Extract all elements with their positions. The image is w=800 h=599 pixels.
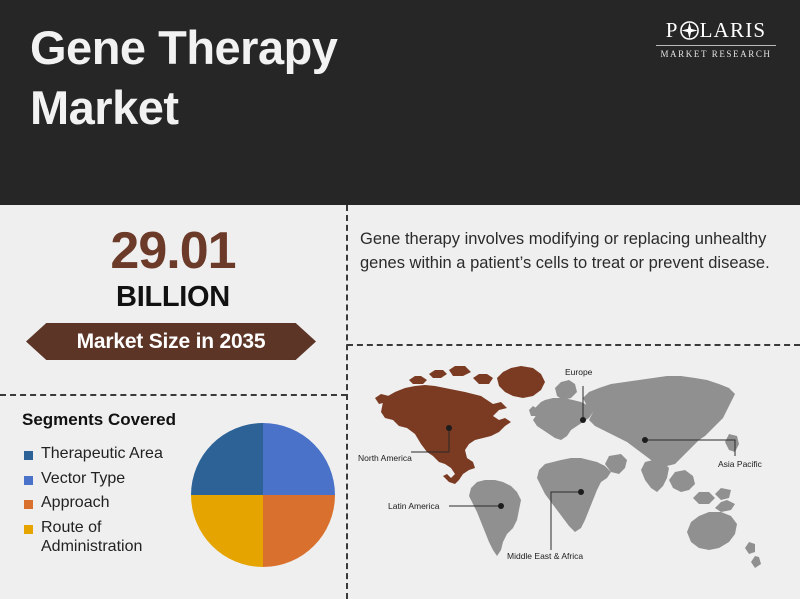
market-size-banner-label: Market Size in 2035 — [26, 323, 316, 360]
segments-title: Segments Covered — [22, 410, 176, 430]
marker-dot-latin-america — [498, 503, 504, 509]
page-title: Gene Therapy Market — [30, 18, 450, 138]
legend-swatch-icon — [24, 525, 33, 534]
market-size-unit: BILLION — [0, 283, 346, 312]
region-shape-scandinavia — [555, 380, 577, 400]
map-label-europe: Europe — [565, 368, 592, 377]
vertical-divider — [346, 205, 348, 599]
region-shape-north-america — [381, 385, 511, 484]
map-label-north-america: North America — [358, 454, 412, 463]
region-shape-arctic-islands — [409, 366, 493, 384]
marker-dot-middle-east-africa — [578, 489, 584, 495]
map-label-asia-pacific: Asia Pacific — [718, 460, 762, 469]
legend-item: Vector Type — [24, 469, 204, 489]
marker-dot-europe — [580, 417, 586, 423]
description-text: Gene therapy involves modifying or repla… — [360, 228, 780, 276]
pie-slice-vector-type — [263, 423, 335, 495]
region-shape-japan — [725, 434, 739, 452]
region-shape-greenland — [497, 366, 545, 398]
polaris-logo: P LARIS MARKET RESEARCH — [652, 20, 780, 59]
world-map: North America Europe Asia Pacific Latin … — [355, 352, 795, 592]
legend-item: Approach — [24, 493, 204, 513]
logo-word-left: P — [666, 20, 679, 41]
legend-swatch-icon — [24, 476, 33, 485]
pie-slice-approach — [263, 495, 335, 567]
region-shape-southeast-asia — [669, 470, 731, 504]
legend-item: Therapeutic Area — [24, 444, 204, 464]
logo-word-right: LARIS — [700, 20, 767, 41]
segments-pie-chart — [188, 420, 338, 570]
region-shape-australia — [687, 512, 737, 550]
pie-slice-route-of-administration — [191, 495, 263, 567]
right-horizontal-divider — [347, 344, 800, 346]
legend-item-label: Therapeutic Area — [41, 444, 163, 464]
pie-slice-therapeutic-area — [191, 423, 263, 495]
marker-dot-north-america — [446, 425, 452, 431]
logo-subtitle: MARKET RESEARCH — [652, 49, 780, 59]
left-horizontal-divider — [0, 394, 347, 396]
legend-item-label: Approach — [41, 493, 110, 513]
region-shape-new-guinea — [715, 500, 735, 512]
market-size-banner: Market Size in 2035 — [26, 323, 316, 360]
legend-item: Route of Administration — [24, 518, 204, 557]
legend-swatch-icon — [24, 451, 33, 460]
market-size-value: 29.01 — [0, 225, 346, 277]
map-label-latin-america: Latin America — [388, 502, 440, 511]
map-label-middle-east-africa: Middle East & Africa — [507, 552, 583, 561]
compass-star-icon — [680, 21, 699, 40]
pie-svg — [188, 420, 338, 570]
segments-legend: Therapeutic Area Vector Type Approach Ro… — [24, 444, 204, 562]
region-shape-india — [641, 460, 669, 492]
region-shape-africa — [537, 458, 611, 532]
map-landmasses — [375, 366, 761, 568]
logo-divider — [656, 45, 776, 46]
legend-swatch-icon — [24, 500, 33, 509]
logo-wordmark: P LARIS — [652, 20, 780, 41]
legend-item-label: Route of Administration — [41, 518, 204, 557]
region-shape-asia — [583, 376, 735, 466]
region-shape-south-america — [469, 480, 521, 556]
marker-dot-asia-pacific — [642, 437, 648, 443]
region-shape-new-zealand — [745, 542, 761, 568]
header-bar: Gene Therapy Market P LARIS MARKET RESEA… — [0, 0, 800, 205]
legend-item-label: Vector Type — [41, 469, 125, 489]
